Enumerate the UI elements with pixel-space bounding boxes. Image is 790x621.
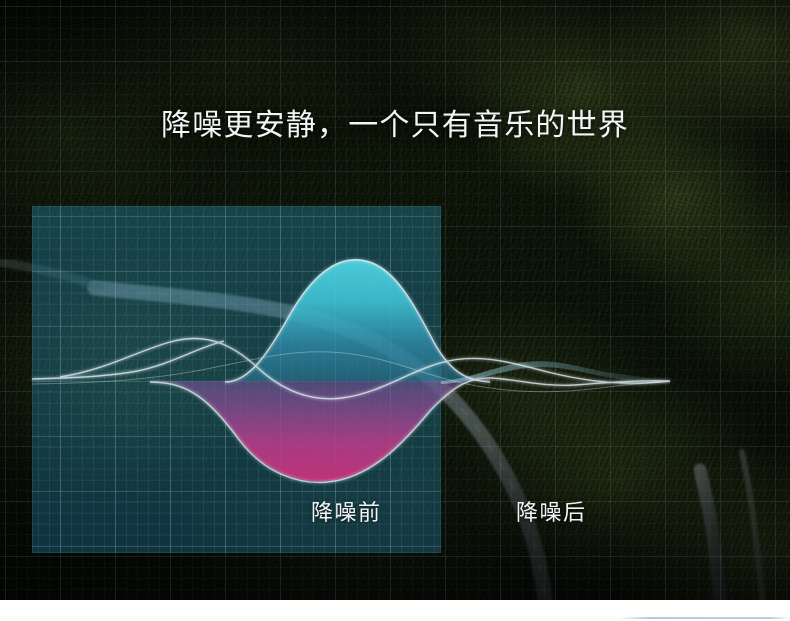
next-section-edge	[618, 617, 790, 619]
caption-after-noise-reduction: 降噪后	[516, 500, 587, 526]
page-title: 降噪更安静，一个只有音乐的世界	[0, 108, 790, 144]
promo-banner: 降噪更安静，一个只有音乐的世界 降噪前 降噪后	[0, 0, 790, 621]
caption-before-noise-reduction: 降噪前	[311, 500, 382, 526]
